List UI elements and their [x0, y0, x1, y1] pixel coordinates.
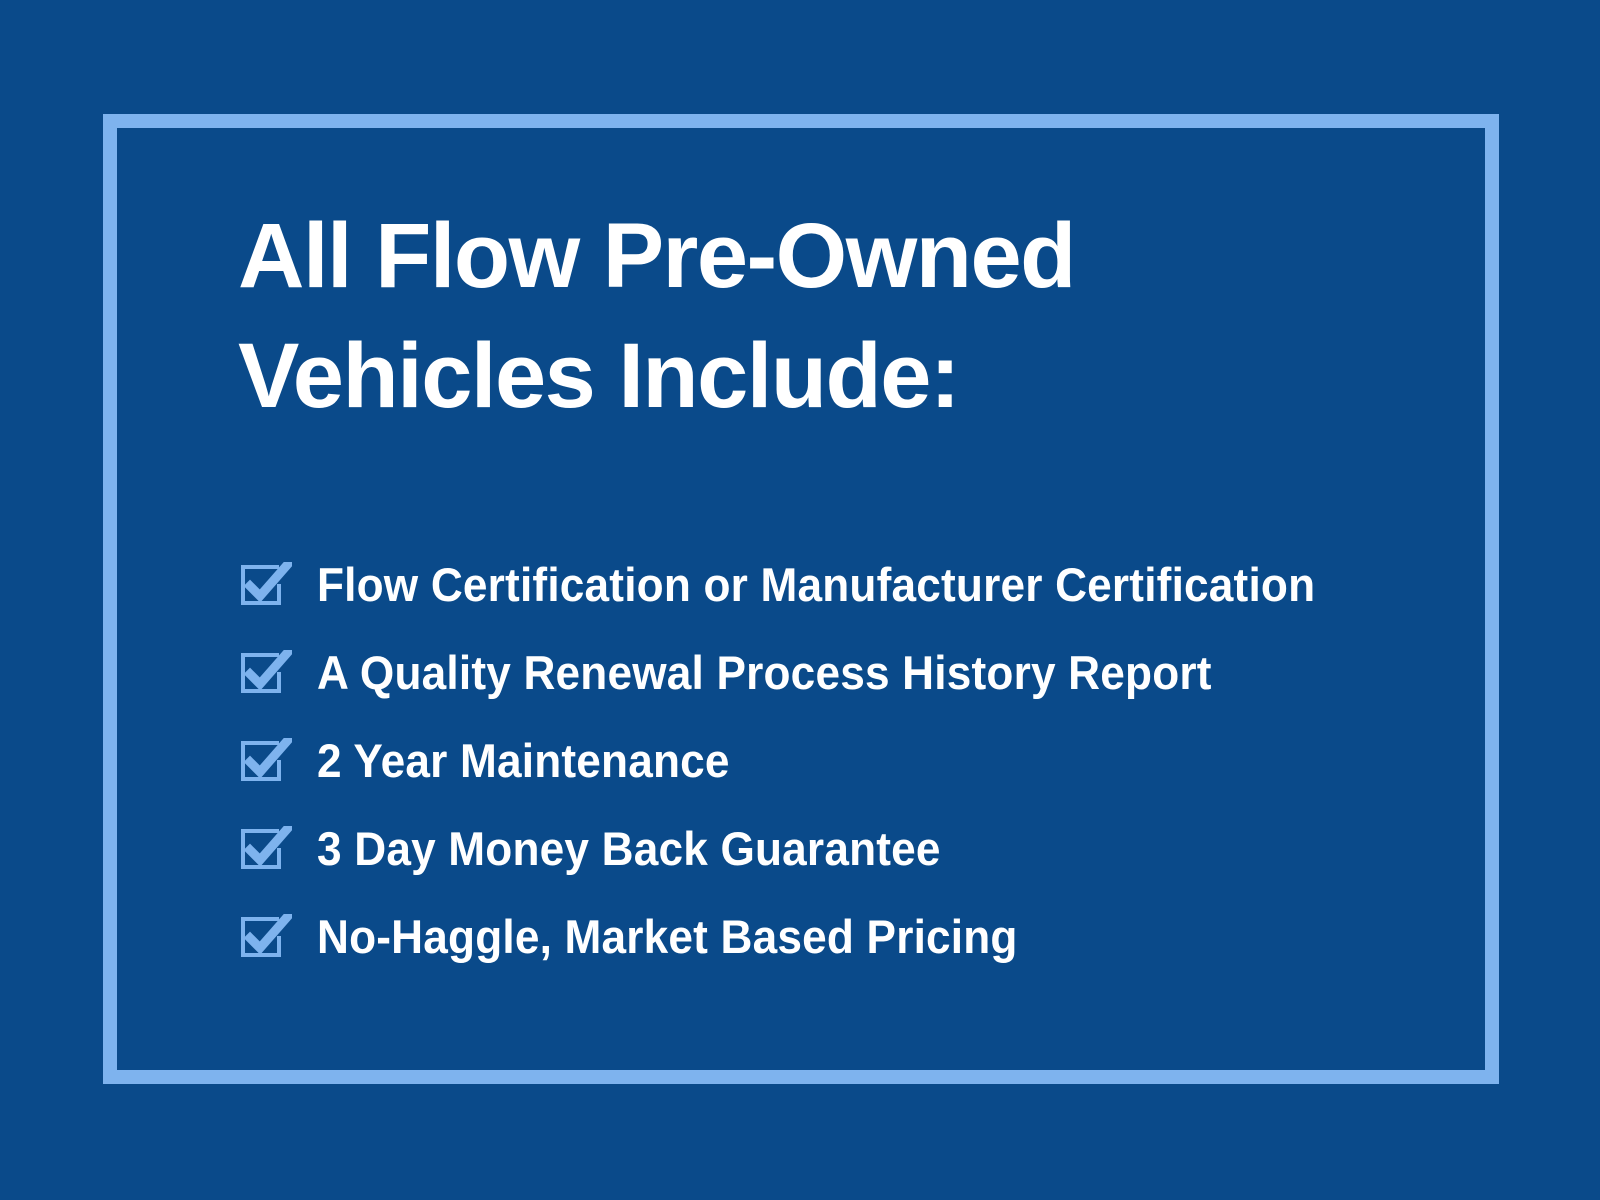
page-title: All Flow Pre-Owned Vehicles Include: [238, 196, 1438, 436]
benefits-list: Flow Certification or Manufacturer Certi… [238, 541, 1438, 981]
checkbox-checked-icon [238, 914, 292, 960]
list-item: Flow Certification or Manufacturer Certi… [238, 541, 1438, 629]
checkbox-checked-icon [238, 738, 292, 784]
checkbox-checked-icon [238, 826, 292, 872]
card-content: All Flow Pre-Owned Vehicles Include: Flo… [238, 196, 1438, 436]
list-item: A Quality Renewal Process History Report [238, 629, 1438, 717]
list-item: 3 Day Money Back Guarantee [238, 805, 1438, 893]
list-item-label: 2 Year Maintenance [317, 737, 730, 785]
list-item-label: A Quality Renewal Process History Report [317, 649, 1212, 697]
checkbox-checked-icon [238, 562, 292, 608]
checkbox-checked-icon [238, 650, 292, 696]
list-item-label: No-Haggle, Market Based Pricing [317, 913, 1018, 961]
list-item-label: Flow Certification or Manufacturer Certi… [317, 561, 1315, 609]
list-item-label: 3 Day Money Back Guarantee [317, 825, 941, 873]
list-item: 2 Year Maintenance [238, 717, 1438, 805]
list-item: No-Haggle, Market Based Pricing [238, 893, 1438, 981]
promo-card: All Flow Pre-Owned Vehicles Include: Flo… [0, 0, 1600, 1200]
